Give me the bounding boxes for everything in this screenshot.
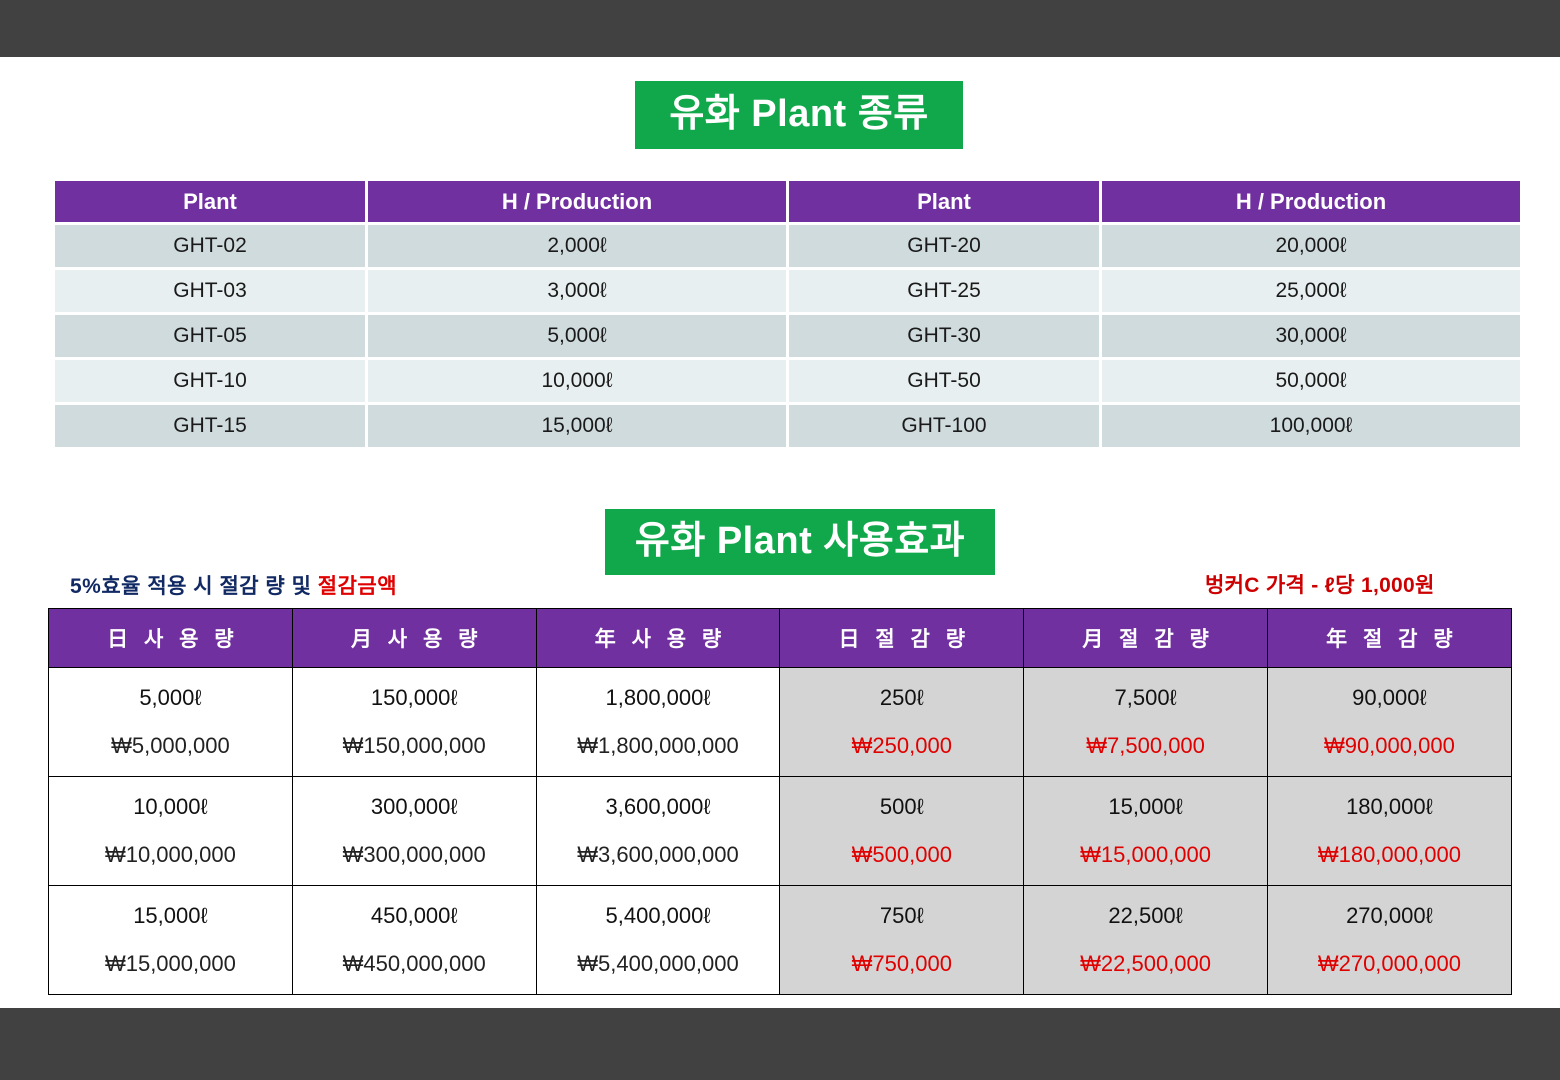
cell-plant: GHT-03 xyxy=(55,270,365,312)
cell-amount: ₩270,000,000 xyxy=(1268,953,1511,975)
caption-efficiency-note-highlight: 절감금액 xyxy=(318,575,397,598)
cell-plant: GHT-100 xyxy=(789,405,1099,447)
cell-plant: GHT-25 xyxy=(789,270,1099,312)
cell-monthly-savings: 7,500ℓ ₩7,500,000 xyxy=(1024,668,1268,777)
cell-production: 30,000ℓ xyxy=(1102,315,1520,357)
caption-efficiency-note: 5%효율 적용 시 절감 량 및 절감금액 xyxy=(70,570,397,600)
section-title-usage-effect-label: 유화 Plant 사용효과 xyxy=(605,509,995,575)
cell-volume: 250ℓ xyxy=(780,687,1023,709)
cell-volume: 1,800,000ℓ xyxy=(537,687,780,709)
cell-amount: ₩3,600,000,000 xyxy=(537,844,780,866)
cell-daily-savings: 750ℓ ₩750,000 xyxy=(780,886,1024,995)
table-row: 5,000ℓ ₩5,000,000 150,000ℓ ₩150,000,000 … xyxy=(49,668,1512,777)
cell-amount: ₩15,000,000 xyxy=(1024,844,1267,866)
cell-daily-usage: 15,000ℓ ₩15,000,000 xyxy=(49,886,293,995)
cell-plant: GHT-30 xyxy=(789,315,1099,357)
cell-volume: 5,000ℓ xyxy=(49,687,292,709)
cell-plant: GHT-02 xyxy=(55,225,365,267)
caption-efficiency-note-plain: 5%효율 적용 시 절감 량 및 xyxy=(70,575,318,598)
cell-production: 100,000ℓ xyxy=(1102,405,1520,447)
cell-production: 5,000ℓ xyxy=(368,315,786,357)
cell-yearly-savings: 270,000ℓ ₩270,000,000 xyxy=(1267,886,1511,995)
cell-production: 3,000ℓ xyxy=(368,270,786,312)
cell-volume: 180,000ℓ xyxy=(1268,796,1511,818)
cell-amount: ₩500,000 xyxy=(780,844,1023,866)
table-header-row: Plant H / Production Plant H / Productio… xyxy=(55,181,1520,222)
column-header-yearly-usage: 年 사 용 량 xyxy=(536,609,780,668)
cell-plant: GHT-15 xyxy=(55,405,365,447)
cell-monthly-usage: 150,000ℓ ₩150,000,000 xyxy=(292,668,536,777)
cell-volume: 5,400,000ℓ xyxy=(537,905,780,927)
cell-production: 10,000ℓ xyxy=(368,360,786,402)
cell-production: 2,000ℓ xyxy=(368,225,786,267)
cell-amount: ₩450,000,000 xyxy=(293,953,536,975)
cell-plant: GHT-50 xyxy=(789,360,1099,402)
cell-volume: 270,000ℓ xyxy=(1268,905,1511,927)
bottom-frame-bar xyxy=(0,1008,1560,1080)
cell-volume: 10,000ℓ xyxy=(49,796,292,818)
cell-volume: 150,000ℓ xyxy=(293,687,536,709)
cell-amount: ₩90,000,000 xyxy=(1268,735,1511,757)
cell-plant: GHT-10 xyxy=(55,360,365,402)
cell-amount: ₩7,500,000 xyxy=(1024,735,1267,757)
cell-volume: 750ℓ xyxy=(780,905,1023,927)
cell-volume: 90,000ℓ xyxy=(1268,687,1511,709)
cell-volume: 7,500ℓ xyxy=(1024,687,1267,709)
cell-monthly-savings: 22,500ℓ ₩22,500,000 xyxy=(1024,886,1268,995)
section-title-plant-types: 유화 Plant 종류 xyxy=(0,81,1560,149)
table-row: 10,000ℓ ₩10,000,000 300,000ℓ ₩300,000,00… xyxy=(49,777,1512,886)
cell-daily-usage: 5,000ℓ ₩5,000,000 xyxy=(49,668,293,777)
cell-daily-usage: 10,000ℓ ₩10,000,000 xyxy=(49,777,293,886)
column-header-daily-usage: 日 사 용 량 xyxy=(49,609,293,668)
slide-canvas: 유화 Plant 종류 Plant H / Production Plant H… xyxy=(0,57,1560,1008)
section-title-plant-types-label: 유화 Plant 종류 xyxy=(635,81,962,149)
column-header-daily-savings: 日 절 감 량 xyxy=(780,609,1024,668)
cell-plant: GHT-05 xyxy=(55,315,365,357)
cell-amount: ₩22,500,000 xyxy=(1024,953,1267,975)
cell-amount: ₩5,400,000,000 xyxy=(537,953,780,975)
cell-amount: ₩15,000,000 xyxy=(49,953,292,975)
table-row: 15,000ℓ ₩15,000,000 450,000ℓ ₩450,000,00… xyxy=(49,886,1512,995)
cell-daily-savings: 250ℓ ₩250,000 xyxy=(780,668,1024,777)
cell-yearly-usage: 1,800,000ℓ ₩1,800,000,000 xyxy=(536,668,780,777)
cell-amount: ₩750,000 xyxy=(780,953,1023,975)
section-title-usage-effect: 유화 Plant 사용효과 xyxy=(0,509,1560,575)
cell-yearly-savings: 180,000ℓ ₩180,000,000 xyxy=(1267,777,1511,886)
column-header-production-left: H / Production xyxy=(368,181,786,222)
column-header-monthly-usage: 月 사 용 량 xyxy=(292,609,536,668)
cell-volume: 15,000ℓ xyxy=(49,905,292,927)
table-row: GHT-15 15,000ℓ GHT-100 100,000ℓ xyxy=(55,405,1520,447)
table-row: GHT-02 2,000ℓ GHT-20 20,000ℓ xyxy=(55,225,1520,267)
cell-daily-savings: 500ℓ ₩500,000 xyxy=(780,777,1024,886)
table-row: GHT-05 5,000ℓ GHT-30 30,000ℓ xyxy=(55,315,1520,357)
column-header-production-right: H / Production xyxy=(1102,181,1520,222)
table-row: GHT-10 10,000ℓ GHT-50 50,000ℓ xyxy=(55,360,1520,402)
cell-monthly-usage: 300,000ℓ ₩300,000,000 xyxy=(292,777,536,886)
column-header-monthly-savings: 月 절 감 량 xyxy=(1024,609,1268,668)
cell-amount: ₩10,000,000 xyxy=(49,844,292,866)
cell-yearly-savings: 90,000ℓ ₩90,000,000 xyxy=(1267,668,1511,777)
cell-volume: 15,000ℓ xyxy=(1024,796,1267,818)
cell-volume: 450,000ℓ xyxy=(293,905,536,927)
column-header-plant-left: Plant xyxy=(55,181,365,222)
cell-yearly-usage: 5,400,000ℓ ₩5,400,000,000 xyxy=(536,886,780,995)
plant-types-table: Plant H / Production Plant H / Productio… xyxy=(52,178,1523,450)
cell-volume: 3,600,000ℓ xyxy=(537,796,780,818)
cell-volume: 300,000ℓ xyxy=(293,796,536,818)
cell-yearly-usage: 3,600,000ℓ ₩3,600,000,000 xyxy=(536,777,780,886)
cell-plant: GHT-20 xyxy=(789,225,1099,267)
cell-amount: ₩1,800,000,000 xyxy=(537,735,780,757)
table-header-row: 日 사 용 량 月 사 용 량 年 사 용 량 日 절 감 량 月 절 감 량 … xyxy=(49,609,1512,668)
column-header-plant-right: Plant xyxy=(789,181,1099,222)
cell-amount: ₩180,000,000 xyxy=(1268,844,1511,866)
top-frame-bar xyxy=(0,0,1560,57)
usage-effect-table: 日 사 용 량 月 사 용 량 年 사 용 량 日 절 감 량 月 절 감 량 … xyxy=(48,608,1512,995)
cell-volume: 500ℓ xyxy=(780,796,1023,818)
cell-amount: ₩300,000,000 xyxy=(293,844,536,866)
column-header-yearly-savings: 年 절 감 량 xyxy=(1267,609,1511,668)
cell-production: 50,000ℓ xyxy=(1102,360,1520,402)
table-row: GHT-03 3,000ℓ GHT-25 25,000ℓ xyxy=(55,270,1520,312)
cell-monthly-usage: 450,000ℓ ₩450,000,000 xyxy=(292,886,536,995)
cell-production: 25,000ℓ xyxy=(1102,270,1520,312)
cell-volume: 22,500ℓ xyxy=(1024,905,1267,927)
cell-production: 20,000ℓ xyxy=(1102,225,1520,267)
cell-production: 15,000ℓ xyxy=(368,405,786,447)
cell-amount: ₩250,000 xyxy=(780,735,1023,757)
cell-amount: ₩150,000,000 xyxy=(293,735,536,757)
cell-amount: ₩5,000,000 xyxy=(49,735,292,757)
cell-monthly-savings: 15,000ℓ ₩15,000,000 xyxy=(1024,777,1268,886)
caption-bunker-c-price: 벙커C 가격 - ℓ당 1,000원 xyxy=(1205,569,1435,599)
